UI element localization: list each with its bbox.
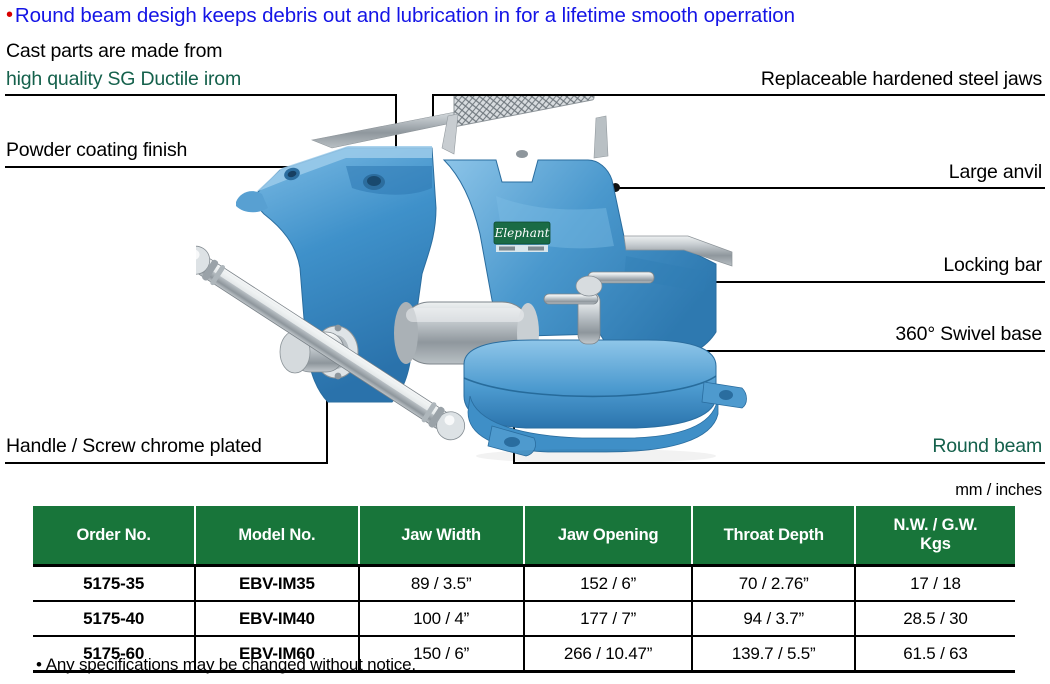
column-header-jaw-opening: Jaw Opening <box>524 506 693 566</box>
cell-jaw-width: 100 / 4” <box>359 601 524 636</box>
column-header-throat-depth: Throat Depth <box>692 506 854 566</box>
callout-swivel-base: 360° Swivel base <box>895 323 1042 346</box>
cell-throat-depth: 70 / 2.76” <box>692 566 854 602</box>
column-header-jaw-width: Jaw Width <box>359 506 524 566</box>
cell-jaw-width: 89 / 3.5” <box>359 566 524 602</box>
table-unit-note: mm / inches <box>955 481 1042 500</box>
cell-model-no: EBV-IM35 <box>195 566 358 602</box>
cell-model-no: EBV-IM40 <box>195 601 358 636</box>
footnote-text: Any specifications may be changed withou… <box>46 655 416 674</box>
column-header-order-no: Order No. <box>33 506 195 566</box>
cell-weight: 28.5 / 30 <box>855 601 1015 636</box>
column-header-weight: N.W. / G.W. Kgs <box>855 506 1015 566</box>
callout-powder-coating: Powder coating finish <box>6 139 187 162</box>
cell-jaw-opening: 266 / 10.47” <box>524 636 693 672</box>
table-row: 5175-35 EBV-IM35 89 / 3.5” 152 / 6” 70 /… <box>33 566 1015 602</box>
callout-locking-bar: Locking bar <box>943 254 1042 277</box>
cell-order-no: 5175-35 <box>33 566 195 602</box>
headline-bullet-icon: • <box>6 4 13 26</box>
specifications-table: Order No. Model No. Jaw Width Jaw Openin… <box>33 506 1015 673</box>
svg-text:Elephant: Elephant <box>494 226 550 240</box>
table-row: 5175-40 EBV-IM40 100 / 4” 177 / 7” 94 / … <box>33 601 1015 636</box>
callout-cast-parts-line1: Cast parts are made from <box>6 40 222 63</box>
table-header-row: Order No. Model No. Jaw Width Jaw Openin… <box>33 506 1015 566</box>
headline-banner: •Round beam desigh keeps debris out and … <box>6 4 795 28</box>
callout-large-anvil: Large anvil <box>949 161 1042 184</box>
callout-round-beam: Round beam <box>932 435 1042 458</box>
callout-cast-parts-line2: high quality SG Ductile irom <box>6 68 241 91</box>
cell-weight: 17 / 18 <box>855 566 1015 602</box>
bench-vise-illustration: Elephant <box>196 96 776 486</box>
cell-jaw-opening: 152 / 6” <box>524 566 693 602</box>
table-footnote: •Any specifications may be changed witho… <box>36 655 416 675</box>
cell-throat-depth: 94 / 3.7” <box>692 601 854 636</box>
cell-jaw-opening: 177 / 7” <box>524 601 693 636</box>
headline-text: Round beam desigh keeps debris out and l… <box>15 4 795 27</box>
cell-weight: 61.5 / 63 <box>855 636 1015 672</box>
cell-order-no: 5175-40 <box>33 601 195 636</box>
footnote-bullet-icon: • <box>36 655 42 674</box>
cell-throat-depth: 139.7 / 5.5” <box>692 636 854 672</box>
callout-replaceable-jaws: Replaceable hardened steel jaws <box>761 68 1042 91</box>
column-header-model-no: Model No. <box>195 506 358 566</box>
